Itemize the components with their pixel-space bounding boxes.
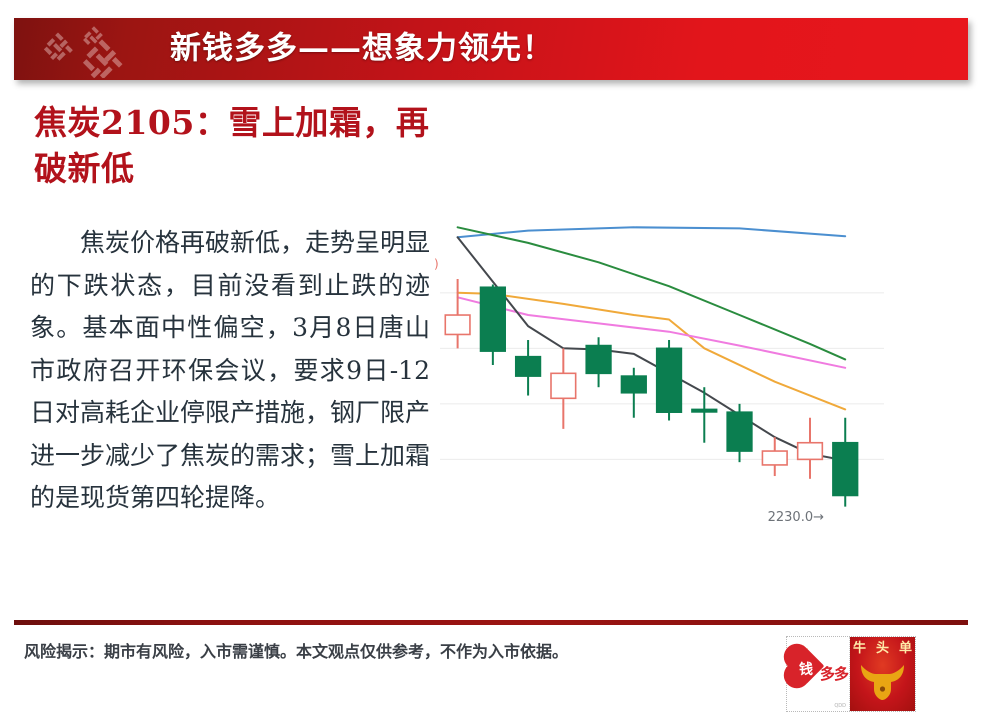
logo-niutoudan-panel: 牛 头 单	[850, 637, 915, 711]
slide-root: 新钱多多——想象力领先！ 焦炭2105：雪上加霜，再破新低 焦炭价格再破新低，走…	[0, 0, 982, 720]
clipped-price-tag: )	[434, 257, 439, 271]
chart-candles	[445, 279, 857, 507]
chart-ma-lines	[458, 227, 846, 460]
article-body-text: 焦炭价格再破新低，走势呈明显的下跌状态，目前没看到止跌的迹象。基本面中性偏空，3…	[30, 222, 430, 520]
logo-brand-rest: 多多	[820, 663, 848, 684]
chart-canvas: 2230.0→ )	[432, 196, 892, 536]
logo-qianduoduo: 钱 多多 QDD	[787, 637, 850, 711]
disclaimer-text: 风险揭示：期市有风险，入市需谨慎。本文观点仅供参考，不作为入市依据。	[24, 640, 724, 664]
page-title: 焦炭2105：雪上加霜，再破新低	[34, 100, 454, 192]
logo-panel-chars: 牛 头 单	[853, 642, 912, 655]
price-label: 2230.0→	[768, 510, 824, 525]
footer-divider	[14, 620, 968, 625]
logo-panel-char-3: 单	[899, 642, 912, 655]
logo-panel-char-2: 头	[876, 642, 889, 655]
header-title: 新钱多多——想象力领先！	[170, 34, 554, 65]
logo-micro-text: QDD	[834, 703, 846, 709]
diamond-lattice-motif-icon	[28, 22, 156, 78]
candlestick-chart: 2230.0→ )	[432, 196, 892, 536]
bull-head-icon	[859, 661, 906, 701]
header-banner: 新钱多多——想象力领先！	[14, 18, 968, 80]
logo-brand-char: 钱	[799, 659, 813, 679]
logo-panel-char-1: 牛	[853, 642, 866, 655]
brand-logo: 钱 多多 QDD 牛 头 单	[786, 636, 916, 712]
